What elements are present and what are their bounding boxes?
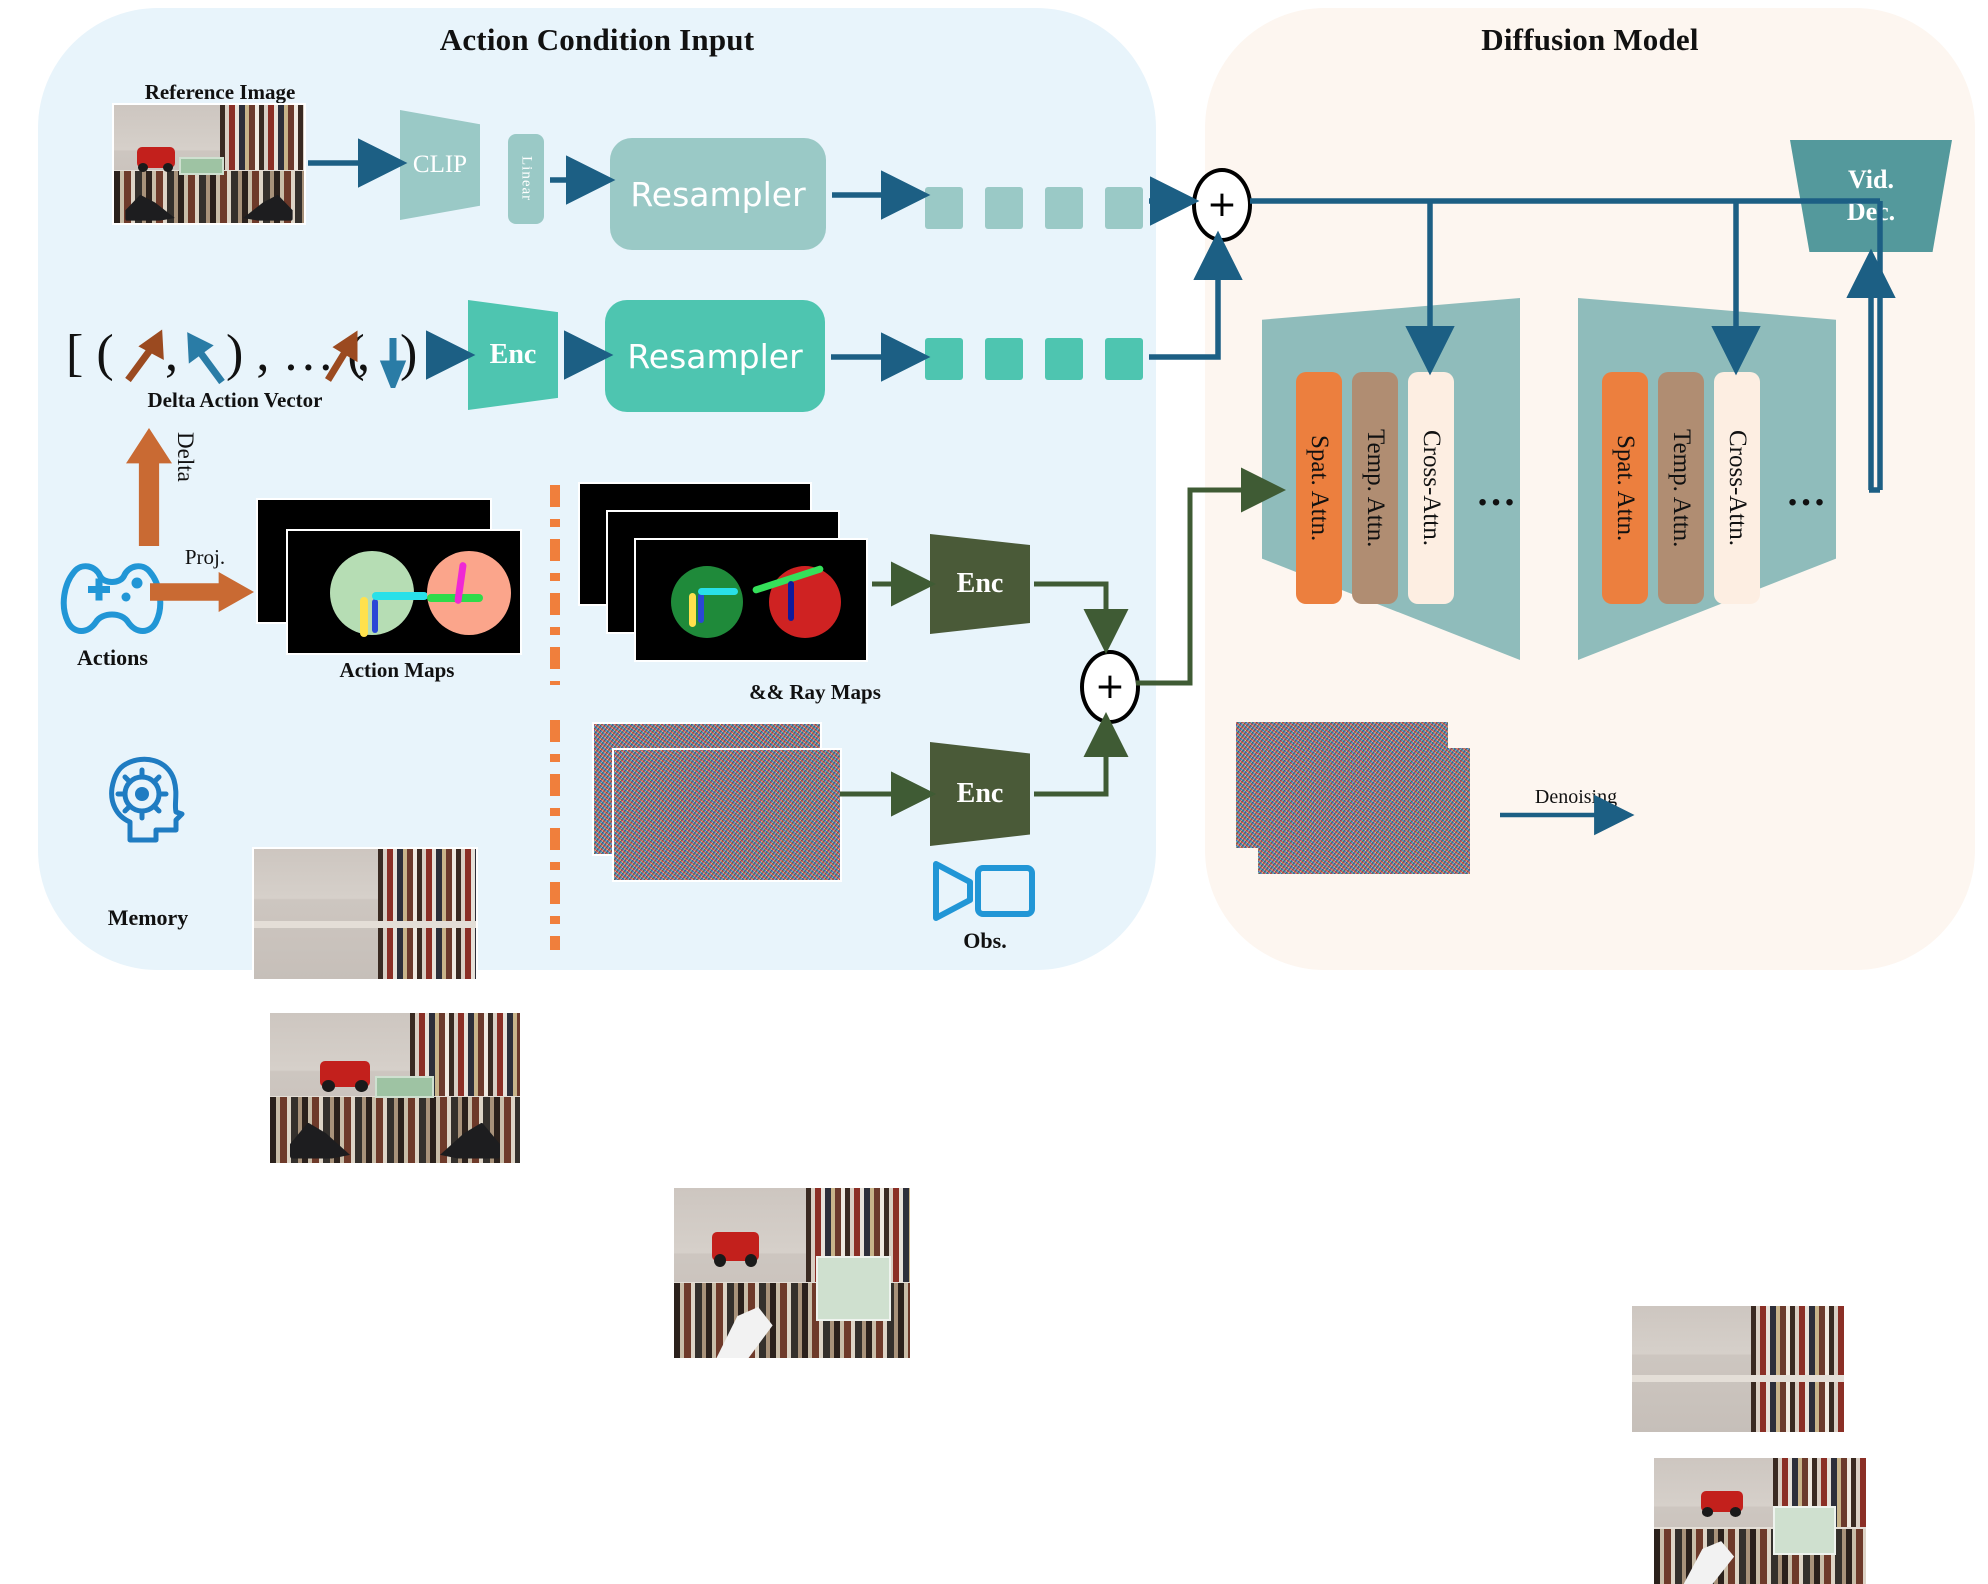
obs-camera-icon [930,860,1040,922]
panel-title-diffusion-model: Diffusion Model [1205,22,1975,58]
denoise-output-frame-back [1632,1306,1844,1432]
ray-map-stick-cyan [698,588,738,595]
unet-left-ellipsis: … [1476,468,1519,515]
svg-text:,: , [357,325,370,382]
denoising-label: Denoising [1502,786,1650,809]
unet-right-cross-attn[interactable]: Cross-Attn. [1714,372,1760,604]
denoise-input-frame-front [1258,748,1470,874]
action-token-3 [1045,338,1083,380]
divider-dashdot-upper [550,485,560,685]
memory-icon [96,750,192,846]
action-map-stick-yellow [360,597,368,637]
resampler-action-block: Resampler [605,300,825,412]
action-token-1 [925,338,963,380]
video-decoder-label-line1: Vid. [1848,164,1894,197]
obs-frame-noisy-mid [612,748,842,882]
ray-maps-label: && Ray Maps [690,680,940,705]
ray-map-stick-blue [698,593,704,623]
enc-obs-label: Enc [930,742,1030,846]
denoise-out-back-shelf-line [1632,1375,1844,1382]
ray-map-stick-darkblue [788,581,794,621]
memory-back-shelf-line [254,921,476,928]
unet-right-spat-attn[interactable]: Spat. Attn. [1602,372,1648,604]
reference-image-label: Reference Image [100,80,340,105]
image-token-2 [985,187,1023,229]
image-token-3 [1045,187,1083,229]
unet-right-temp-attn-label: Temp. Attn. [1667,429,1695,547]
proj-label: Proj. [150,545,260,570]
video-decoder-label-line2: Dec. [1847,196,1895,229]
obs-front-robot-car [712,1232,759,1261]
video-decoder-label: Vid. Dec. [1790,140,1952,252]
action-maps-label: Action Maps [252,658,542,683]
delta-action-vector-label: Delta Action Vector [95,388,375,413]
memory-label: Memory [78,905,218,931]
memory-frame-front [268,1011,522,1165]
unet-left-spat-attn[interactable]: Spat. Attn. [1296,372,1342,604]
actions-label: Actions [40,645,185,671]
memory-front-robot-car [320,1061,370,1087]
obs-frame-front [672,1186,912,1360]
unet-right-cross-attn-label: Cross-Attn. [1723,430,1751,546]
obs-label: Obs. [930,928,1040,954]
sum-node-bottom: + [1080,650,1140,724]
action-token-2 [985,338,1023,380]
svg-text:) ]: ) ] [400,325,420,382]
action-map-stick-blue [372,599,378,633]
ray-map-circle-green [671,566,743,638]
denoise-out-back-books [1751,1306,1844,1432]
svg-text:,: , [165,325,178,382]
unet-left-temp-attn[interactable]: Temp. Attn. [1352,372,1398,604]
panel-title-action-condition-input: Action Condition Input [38,22,1156,58]
ray-map-stick-yellow [689,593,696,627]
delta-action-vector-expression: [ ( , ) , … ( , ) ] [60,318,420,388]
unet-left-cross-attn[interactable]: Cross-Attn. [1408,372,1454,604]
divider-dashdot-lower [550,720,560,950]
action-map-circle-salmon [427,551,511,635]
unet-left-temp-attn-label: Temp. Attn. [1361,429,1389,547]
denoise-out-front-robot-car [1701,1491,1743,1512]
obs-front-green-book [816,1256,891,1321]
unet-right-ellipsis: … [1786,468,1829,515]
denoise-out-front-green-book [1773,1506,1836,1555]
reference-image-thumbnail [112,103,306,225]
linear-label: Linear [508,134,544,224]
delta-arrow-label: Delta [172,432,198,482]
memory-front-green-book [375,1076,434,1098]
unet-right-temp-attn[interactable]: Temp. Attn. [1658,372,1704,604]
memory-frame-back [252,847,478,981]
image-token-1 [925,187,963,229]
action-map-stick-cyan [372,592,428,600]
enc-actionmap-label: Enc [930,534,1030,634]
ray-map-frame-front [634,538,868,662]
enc-action-label: Enc [468,300,558,410]
clip-label: CLIP [400,110,480,220]
unet-left-cross-attn-label: Cross-Attn. [1417,430,1445,546]
svg-text:[ (: [ ( [66,325,114,382]
action-token-4 [1105,338,1143,380]
unet-right-spat-attn-label: Spat. Attn. [1611,435,1639,541]
image-token-4 [1105,187,1143,229]
reference-image-robot-car [137,147,175,167]
resampler-image-block: Resampler [610,138,826,250]
unet-left-spat-attn-label: Spat. Attn. [1305,435,1333,541]
action-map-frame-front [286,529,522,655]
memory-back-books [378,849,476,979]
sum-node-top: + [1192,168,1252,242]
denoise-output-frame-front [1654,1458,1866,1584]
reference-image-green-book [179,157,225,175]
